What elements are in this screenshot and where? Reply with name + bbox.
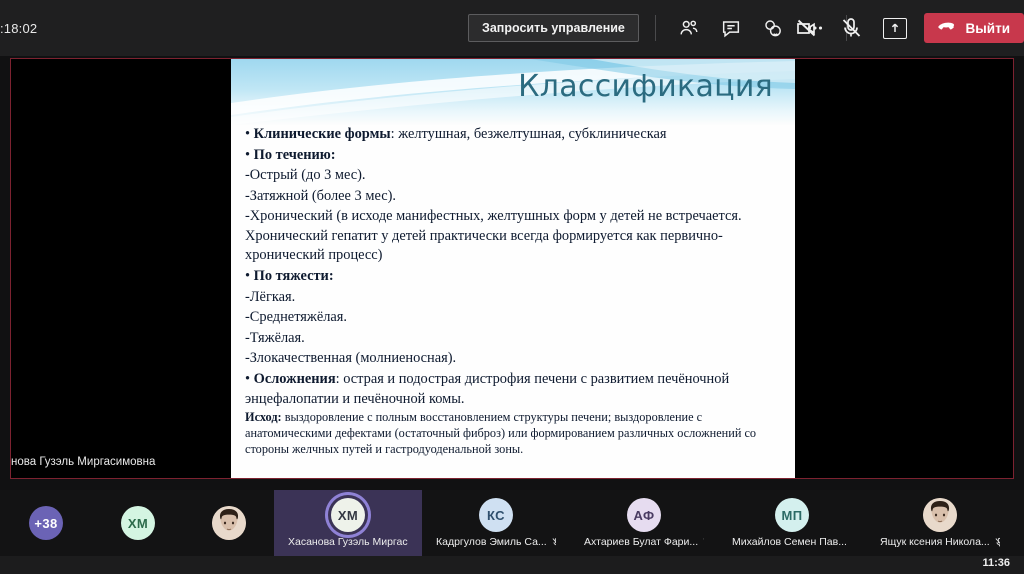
- participant-tile[interactable]: АФАхтариев Булат Фари...: [570, 490, 718, 556]
- participant-name-text: Ахтариев Булат Фари...: [584, 536, 698, 548]
- participant-name: Ахтариев Булат Фари...: [584, 536, 704, 548]
- avatar: [212, 506, 246, 540]
- participant-tile[interactable]: КСКадргулов Эмиль Са...: [422, 490, 570, 556]
- slide-outcome-label: Исход:: [245, 410, 282, 424]
- slide-line: • По тяжести:: [245, 267, 785, 287]
- participant-tile[interactable]: [184, 490, 274, 556]
- request-control-button[interactable]: Запросить управление: [468, 14, 639, 42]
- slide-line: -Злокачественная (молниеносная).: [245, 349, 785, 369]
- slide-line-text: : желтушная, безжелтушная, субклиническа…: [391, 126, 667, 142]
- slide-line: • По течению:: [245, 146, 785, 166]
- slide-line-text: -Хронический (в исходе манифестных, желт…: [245, 208, 742, 263]
- mic-muted-icon: [702, 537, 704, 548]
- slide-line-bold: По течению:: [254, 147, 336, 163]
- windows-taskbar: 11:36: [0, 556, 1024, 574]
- slide-line-text: -Острый (до 3 мес).: [245, 167, 366, 183]
- slide-line-text: -Лёгкая.: [245, 289, 295, 305]
- mic-muted-icon: [851, 537, 852, 548]
- slide-outcome-paragraph: Исход: выздоровление с полным восстановл…: [245, 410, 785, 458]
- overflow-participants-badge[interactable]: +38: [29, 506, 63, 540]
- participant-tile[interactable]: Ящук ксения Никола...: [866, 490, 1014, 556]
- hangup-icon: [938, 20, 958, 37]
- participant-tile[interactable]: МПМихайлов Семен Пав...: [718, 490, 866, 556]
- slide-line: -Тяжёлая.: [245, 329, 785, 349]
- leave-call-button[interactable]: Выйти: [924, 13, 1024, 43]
- slide-line-text: -Среднетяжёлая.: [245, 309, 347, 325]
- presenter-name-label: нова Гузэль Миргасимовна: [11, 456, 155, 468]
- mic-muted-icon: [994, 537, 1000, 548]
- people-icon[interactable]: [672, 11, 706, 45]
- slide-line: • Клинические формы: желтушная, безжелту…: [245, 125, 785, 145]
- participant-tile[interactable]: ХМХасанова Гузэль Миргас...: [274, 490, 422, 556]
- mic-off-icon[interactable]: [834, 11, 868, 45]
- teams-meeting-window: :18:02 Запросить управление: [0, 0, 1024, 574]
- slide-line: -Среднетяжёлая.: [245, 308, 785, 328]
- avatar: КС: [479, 498, 513, 532]
- avatar: АФ: [627, 498, 661, 532]
- mic-muted-icon: [551, 537, 556, 548]
- participant-tile[interactable]: +38: [0, 490, 92, 556]
- participant-name-text: Кадргулов Эмиль Са...: [436, 536, 547, 548]
- presentation-slide: Классификация • Клинические формы: желту…: [231, 59, 795, 478]
- leave-label: Выйти: [966, 21, 1011, 36]
- slide-bullet-marker: •: [245, 268, 254, 284]
- participant-tile[interactable]: КИ: [1014, 490, 1024, 556]
- avatar: ХМ: [331, 498, 365, 532]
- slide-line: -Лёгкая.: [245, 288, 785, 308]
- participant-name-text: Ящук ксения Никола...: [880, 536, 990, 548]
- participant-name-text: Хасанова Гузэль Миргас...: [288, 536, 408, 548]
- toolbar-divider: [655, 15, 656, 41]
- slide-line-text: -Затяжной (более 3 мес).: [245, 188, 396, 204]
- slide-line-bold: Осложнения: [254, 371, 336, 387]
- chat-icon[interactable]: [714, 11, 748, 45]
- meeting-timer: :18:02: [0, 21, 37, 36]
- slide-line-text: -Злокачественная (молниеносная).: [245, 350, 456, 366]
- slide-bullet-list: • Клинические формы: желтушная, безжелту…: [245, 125, 785, 409]
- slide-line: -Затяжной (более 3 мес).: [245, 187, 785, 207]
- toolbar-right-controls: Выйти: [790, 0, 1024, 56]
- slide-header-banner: Классификация: [231, 59, 795, 125]
- avatar: МП: [775, 498, 809, 532]
- taskbar-clock: 11:36: [982, 557, 1010, 569]
- avatar: ХМ: [121, 506, 155, 540]
- slide-line-bold: Клинические формы: [254, 126, 391, 142]
- slide-line: • Осложнения: острая и подострая дистроф…: [245, 370, 785, 409]
- participant-name: Михайлов Семен Пав...: [732, 536, 852, 548]
- participant-filmstrip[interactable]: +38ХМХМХасанова Гузэль Миргас...КСКадргу…: [0, 490, 1024, 556]
- reactions-icon[interactable]: [756, 11, 790, 45]
- avatar: [923, 498, 957, 532]
- participant-name: Хасанова Гузэль Миргас...: [288, 536, 408, 548]
- slide-body: • Клинические формы: желтушная, безжелту…: [231, 125, 795, 458]
- meeting-toolbar: :18:02 Запросить управление: [0, 0, 1024, 56]
- participant-name: Ящук ксения Никола...: [880, 536, 1000, 548]
- slide-line-bold: По тяжести:: [254, 268, 334, 284]
- slide-bullet-marker: •: [245, 371, 254, 387]
- slide-bullet-marker: •: [245, 126, 254, 142]
- participant-tile[interactable]: ХМ: [92, 490, 184, 556]
- participant-name-text: Михайлов Семен Пав...: [732, 536, 847, 548]
- participant-name: Кадргулов Эмиль Са...: [436, 536, 556, 548]
- camera-off-icon[interactable]: [790, 11, 824, 45]
- slide-line: -Острый (до 3 мес).: [245, 166, 785, 186]
- slide-bullet-marker: •: [245, 147, 254, 163]
- slide-title: Классификация: [518, 69, 773, 104]
- slide-outcome-text: выздоровление с полным восстановлением с…: [245, 410, 756, 456]
- shared-screen-stage[interactable]: Классификация • Клинические формы: желту…: [10, 58, 1014, 479]
- slide-line-text: -Тяжёлая.: [245, 330, 305, 346]
- slide-line: -Хронический (в исходе манифестных, желт…: [245, 207, 785, 266]
- share-screen-icon[interactable]: [878, 11, 912, 45]
